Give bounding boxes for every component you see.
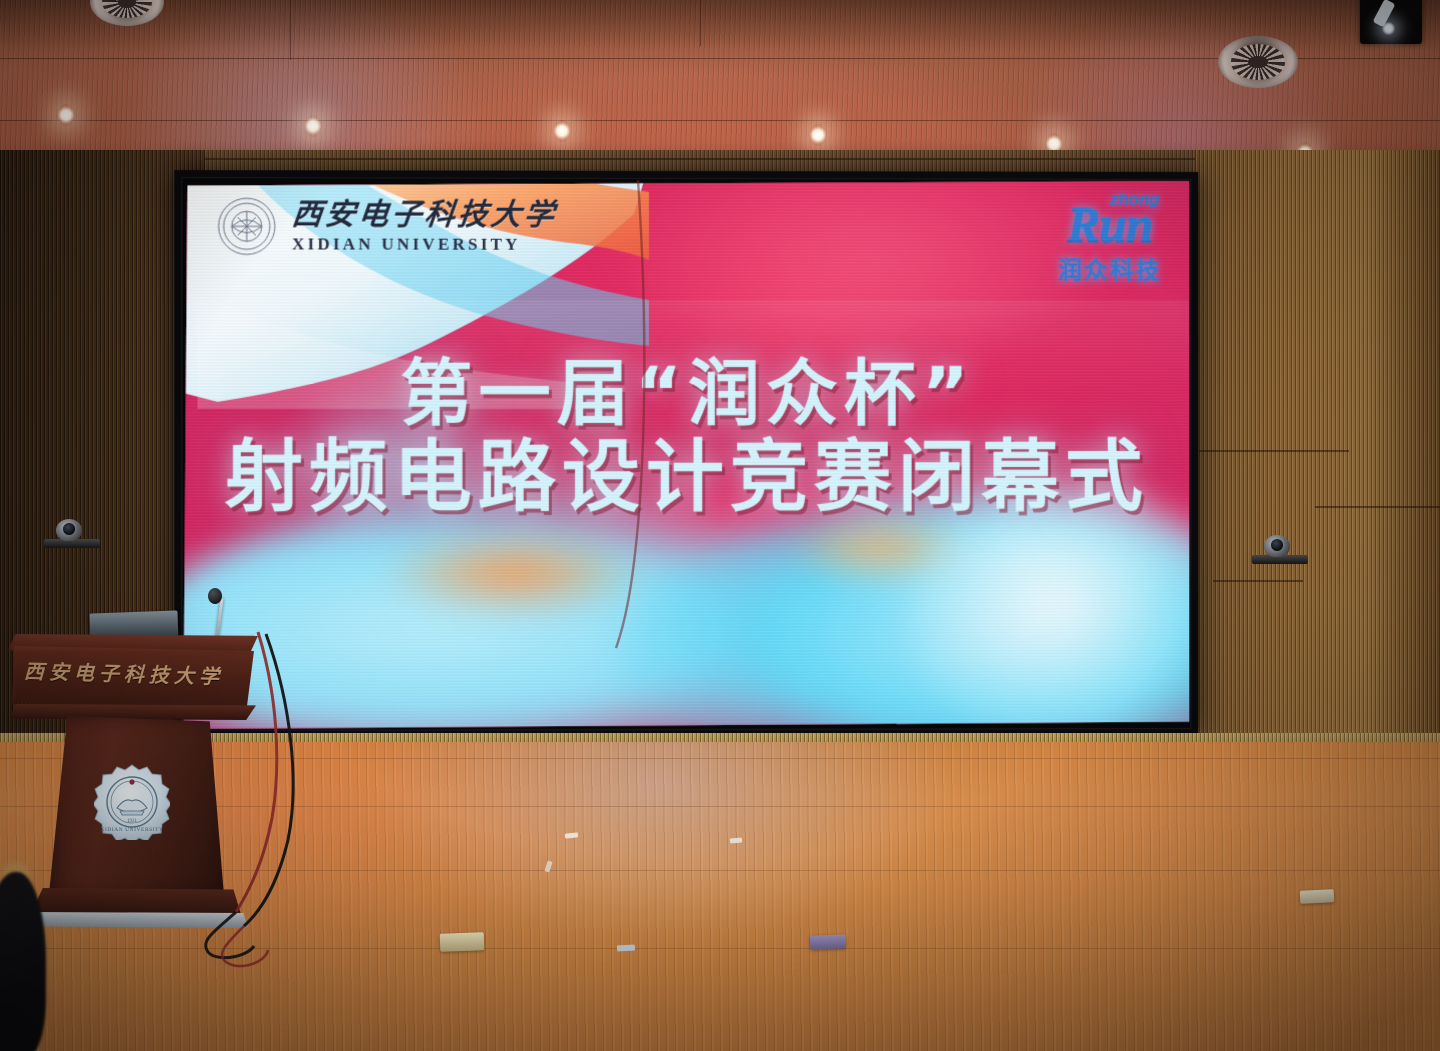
ceiling-vent-icon [1218, 36, 1298, 88]
wall-slat-texture [1195, 150, 1440, 770]
university-name-cn: 西安电子科技大学 [290, 200, 558, 230]
sponsor-superscript: zhong [1110, 190, 1160, 210]
screen-cable [600, 180, 720, 650]
cable-red-upper [616, 180, 644, 648]
wall-seam [1213, 580, 1303, 582]
xidian-seal-icon [216, 195, 278, 257]
sponsor-logo: Run zhong 润众科技 [1058, 199, 1161, 286]
floor-debris [617, 945, 635, 952]
ptz-camera-right [1252, 534, 1308, 564]
ceiling-downlight [305, 115, 321, 137]
cable-bundle [0, 560, 460, 980]
camera-lens-icon [1271, 539, 1283, 551]
floor-debris [730, 838, 742, 844]
ceiling-seam [290, 0, 291, 60]
floor-outlet-box [810, 934, 846, 949]
cable-red [236, 632, 277, 912]
floor-outlet-box [1300, 889, 1335, 904]
university-logo: 西安电子科技大学 XIDIAN UNIVERSITY [216, 195, 557, 258]
auditorium-photo: 西安电子科技大学 XIDIAN UNIVERSITY Run zhong 润众科… [0, 0, 1440, 1051]
ptz-camera-left [44, 518, 100, 548]
seal-shape [216, 195, 278, 257]
ceiling-light-track [1360, 0, 1422, 44]
ceiling-downlight [58, 104, 74, 126]
wall-seam [1315, 506, 1440, 508]
cable-coil [222, 926, 268, 966]
university-name-en: XIDIAN UNIVERSITY [292, 235, 557, 252]
ceiling-downlight [810, 124, 826, 146]
ceiling-seam [700, 0, 701, 46]
camera-lens-icon [63, 523, 75, 535]
university-name-block: 西安电子科技大学 XIDIAN UNIVERSITY [292, 200, 557, 252]
cable-coil [206, 912, 254, 958]
right-wall [1195, 150, 1440, 770]
spotlight-icon [1382, 22, 1395, 35]
wall-seam [1199, 450, 1349, 452]
ceiling-downlight [554, 120, 570, 142]
sponsor-name-cn: 润众科技 [1058, 250, 1161, 285]
ceiling-seam [0, 120, 1440, 121]
vent-hub [1248, 56, 1267, 68]
